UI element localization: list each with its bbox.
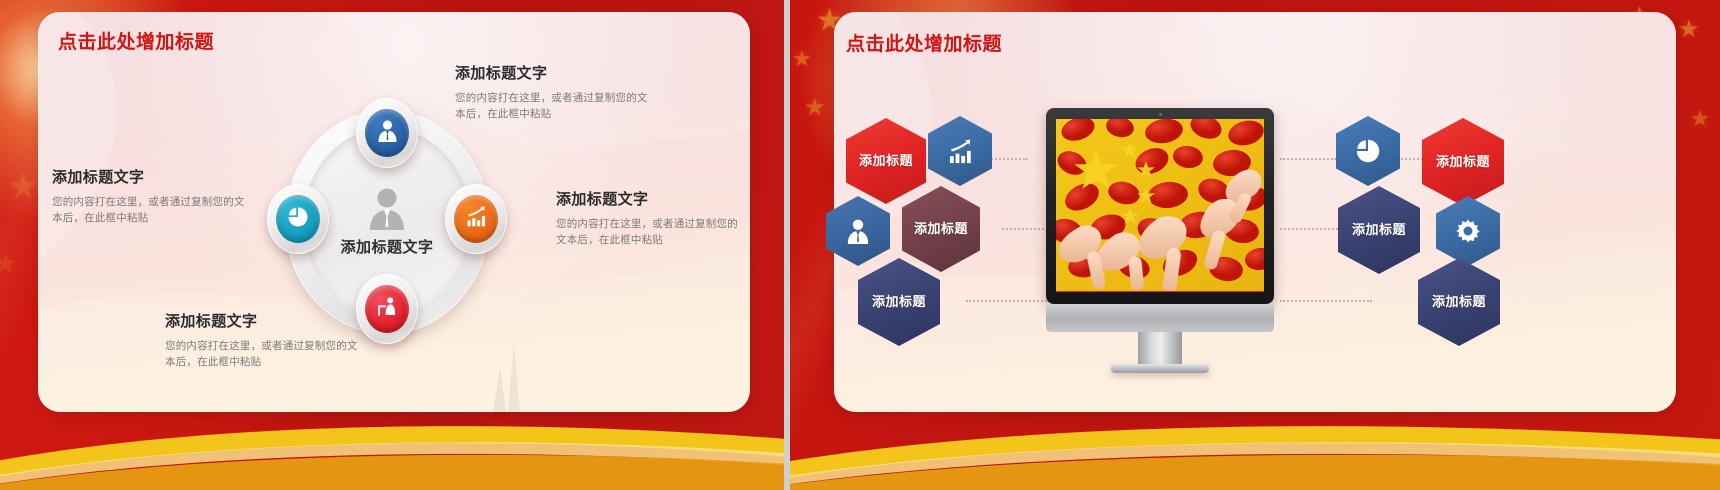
hex-label: 添加标题 <box>872 294 926 309</box>
pie-chart-icon <box>287 206 309 233</box>
slide-divider <box>784 0 790 490</box>
hexagon-right-mid-label[interactable]: 添加标题 <box>1338 186 1420 274</box>
hexagon-left-mid-icon[interactable] <box>826 196 890 266</box>
monitor-mockup <box>1046 108 1274 348</box>
desk-work-icon <box>376 296 398 322</box>
bar-growth-icon <box>947 139 973 164</box>
diagram-node-right[interactable] <box>445 184 507 254</box>
hexagon-right-top-icon[interactable] <box>1336 116 1400 186</box>
text-block-body: 您的内容打在这里，或者通过复制您的文本后，在此框中粘贴 <box>455 90 655 123</box>
pie-chart-icon <box>1355 138 1381 164</box>
monitor-bezel <box>1046 108 1274 304</box>
hexagon-left-top-icon[interactable] <box>928 116 992 186</box>
flag-hearts-photo <box>1056 119 1264 291</box>
text-block-bottom-left: 添加标题文字 您的内容打在这里，或者通过复制您的文本后，在此框中粘贴 <box>165 310 365 371</box>
node-disc <box>365 109 409 157</box>
node-disc <box>365 285 409 333</box>
connector-line <box>1280 158 1336 160</box>
hex-label: 添加标题 <box>914 221 968 236</box>
page-title: 点击此处增加标题 <box>846 29 1002 56</box>
monitor-stand <box>1138 332 1182 366</box>
presentation-preview: ★ ★ <box>0 0 1720 490</box>
node-disc <box>454 195 498 243</box>
page-title: 点击此处增加标题 <box>58 27 214 54</box>
monitor-chin <box>1046 304 1274 332</box>
gear-icon <box>1455 218 1481 244</box>
text-block-middle-right: 添加标题文字 您的内容打在这里，或者通过复制您的文本后，在此框中粘贴 <box>556 188 746 249</box>
node-disc <box>276 195 320 243</box>
slide-circle-diagram[interactable]: ★ ★ <box>0 0 784 490</box>
hexagon-right-top-label[interactable]: 添加标题 <box>1422 118 1504 206</box>
hexagon-right-bottom-label[interactable]: 添加标题 <box>1418 258 1500 346</box>
person-icon <box>317 186 457 235</box>
connector-line <box>1280 300 1372 302</box>
diagram-node-left[interactable] <box>267 184 329 254</box>
hex-label: 添加标题 <box>1352 222 1406 237</box>
text-block-body: 您的内容打在这里，或者通过复制您的文本后，在此框中粘贴 <box>556 216 746 249</box>
circle-diagram: 添加标题文字 <box>271 98 503 346</box>
text-block-top-right: 添加标题文字 您的内容打在这里，或者通过复制您的文本后，在此框中粘贴 <box>455 62 655 123</box>
hexagon-right-mid-icon[interactable] <box>1436 196 1500 266</box>
monitor-screen <box>1056 119 1264 292</box>
hexagon-left-bottom-label[interactable]: 添加标题 <box>858 258 940 346</box>
diagram-node-top[interactable] <box>356 98 418 168</box>
hex-label: 添加标题 <box>1432 294 1486 309</box>
diagram-center: 添加标题文字 <box>317 186 457 276</box>
monitor-base <box>1111 364 1209 373</box>
person-icon <box>846 218 870 244</box>
diagram-node-bottom[interactable] <box>356 274 418 344</box>
text-block-body: 您的内容打在这里，或者通过复制您的文本后，在此框中粘贴 <box>165 338 365 371</box>
person-icon <box>377 119 398 147</box>
diagram-center-label: 添加标题文字 <box>340 239 433 256</box>
text-block-heading: 添加标题文字 <box>52 166 252 187</box>
text-block-body: 您的内容打在这里，或者通过复制您的文本后，在此框中粘贴 <box>52 194 252 227</box>
text-block-heading: 添加标题文字 <box>455 62 655 83</box>
webcam-icon <box>1159 113 1162 116</box>
bar-growth-icon <box>465 206 487 232</box>
connector-line <box>1280 228 1338 230</box>
text-block-heading: 添加标题文字 <box>165 310 365 331</box>
connector-line <box>966 300 1058 302</box>
text-block-heading: 添加标题文字 <box>556 188 746 209</box>
slide-hexagon-monitor[interactable]: ★ ★ ★ ★ ★ ★ ★ <box>790 0 1720 490</box>
hex-label: 添加标题 <box>859 153 913 168</box>
hex-label: 添加标题 <box>1436 154 1490 169</box>
text-block-middle-left: 添加标题文字 您的内容打在这里，或者通过复制您的文本后，在此框中粘贴 <box>52 166 252 227</box>
